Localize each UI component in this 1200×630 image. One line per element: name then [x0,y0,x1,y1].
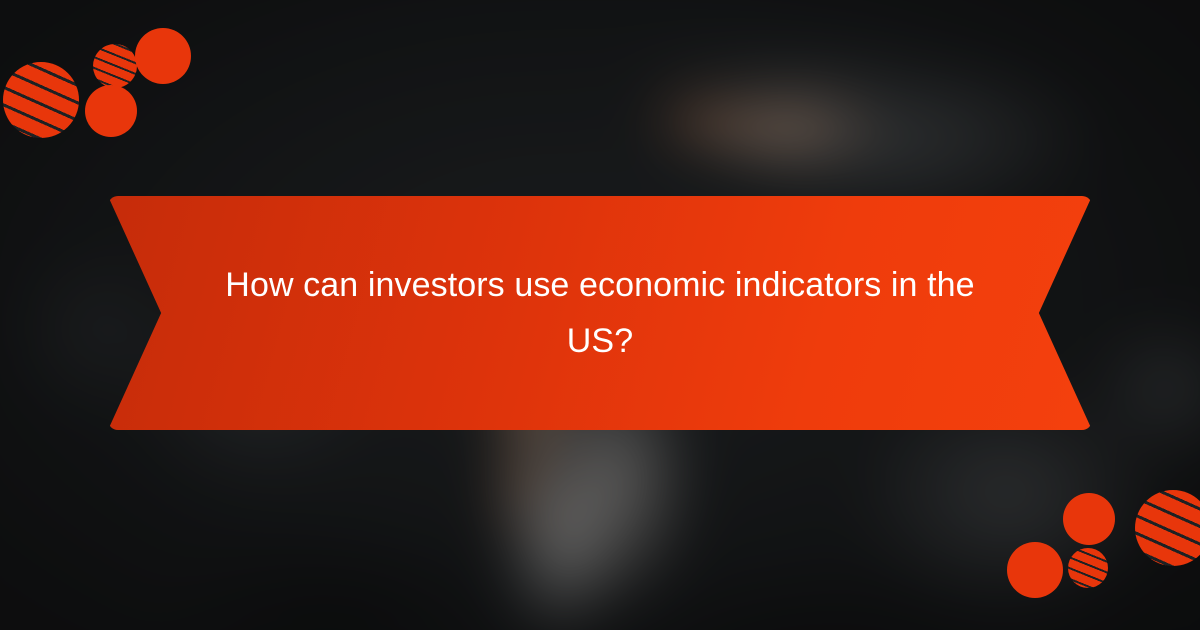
decor-circle-solid-medium-bottom-right [1007,542,1063,598]
decor-circle-solid-top-left [135,28,191,84]
decor-circle-striped-top-left [3,62,79,138]
decor-circle-solid-medium-top-left [85,85,137,137]
social-card-canvas: How can investors use economic indicator… [0,0,1200,630]
decor-circle-solid-bottom-right [1063,493,1115,545]
headline-banner: How can investors use economic indicator… [108,196,1092,430]
headline-text: How can investors use economic indicator… [205,257,995,369]
decor-circle-striped-small-bottom-right [1068,548,1108,588]
decor-circle-striped-small-top-left [93,44,137,88]
